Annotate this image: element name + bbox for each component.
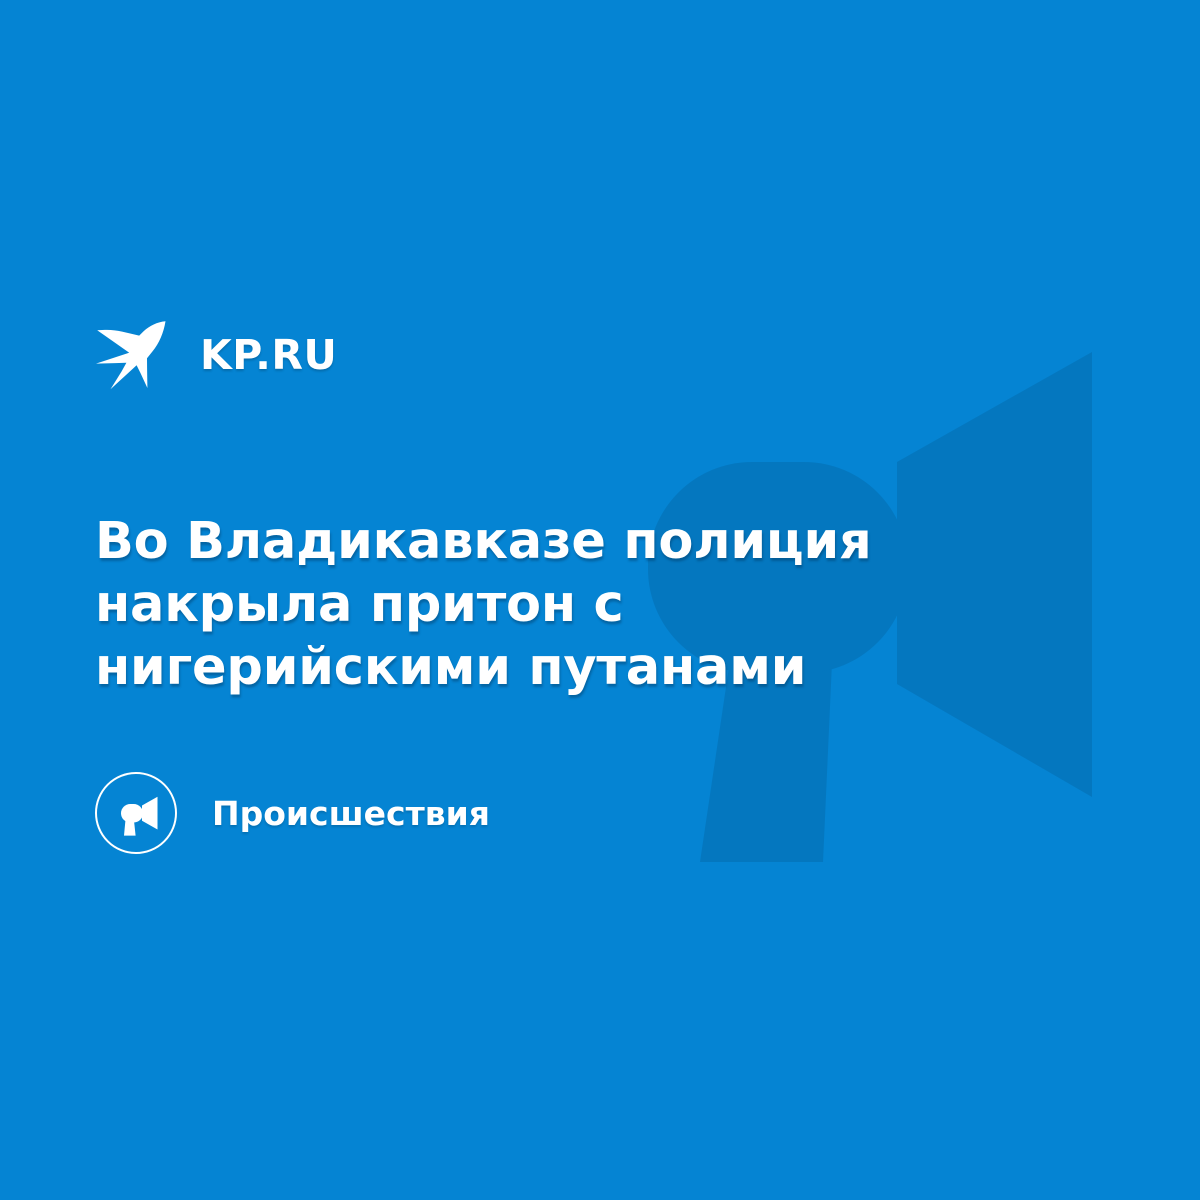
- brand-lockup[interactable]: KP.RU: [95, 318, 337, 392]
- card-content: KP.RU Во Владикавказе полиция накрыла пр…: [95, 0, 1105, 1200]
- rubric-badge-circle: [95, 772, 177, 854]
- rubric-label: Происшествия: [212, 797, 490, 830]
- megaphone-icon: [116, 796, 160, 836]
- brand-name: KP.RU: [200, 335, 337, 376]
- page-title: Во Владикавказе полиция накрыла притон с…: [95, 510, 1055, 699]
- swallow-bird-logo-icon: [95, 320, 167, 390]
- news-share-card: KP.RU Во Владикавказе полиция накрыла пр…: [0, 0, 1200, 1200]
- rubric-tag[interactable]: Происшествия: [95, 771, 490, 855]
